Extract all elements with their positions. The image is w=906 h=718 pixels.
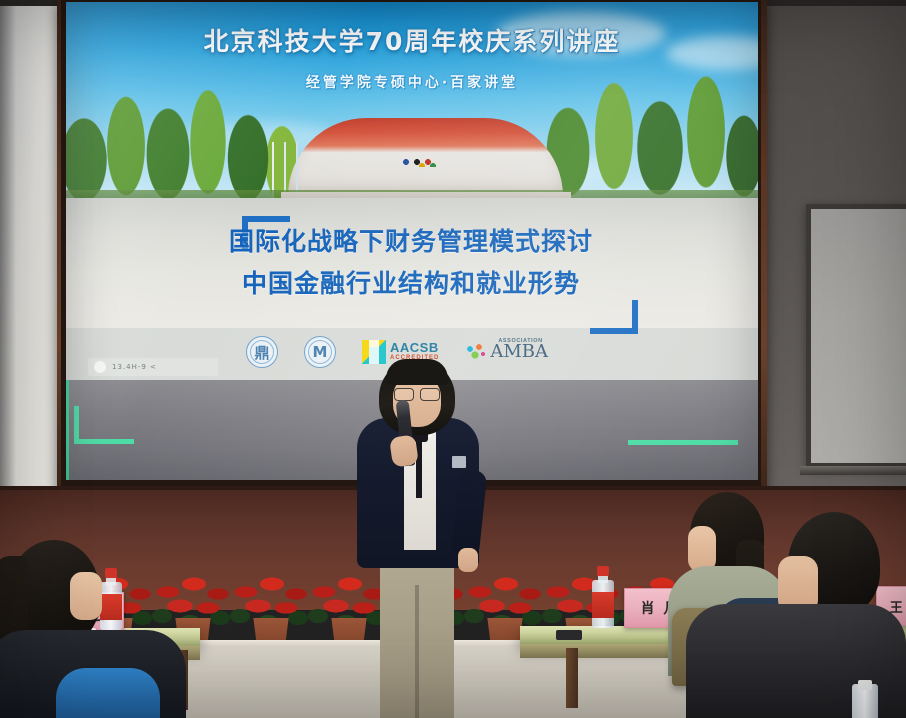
slide-header-title: 北京科技大学70周年校庆系列讲座 [66,22,758,58]
whiteboard-marker-tray [800,466,906,475]
presenter-trousers [380,545,454,718]
attendee-jacket-trim [56,668,160,718]
lecture-hall-scene: 北京科技大学70周年校庆系列讲座 经管学院专硕中心·百家讲堂 国际化战略下财务管… [0,0,906,718]
presenter-fringe [386,359,448,385]
left-wall-shadow [0,0,16,548]
table-leg [566,648,578,708]
slide-header: 北京科技大学70周年校庆系列讲座 经管学院专硕中心·百家讲堂 [66,22,758,92]
aacsb-mark-icon [362,340,386,364]
slide-headline-line-1: 国际化战略下财务管理模式探讨 [196,228,626,256]
university-seal-sem-icon: M [304,336,336,368]
campus-stadium-building [288,118,563,200]
slide-header-subtitle: 经管学院专硕中心·百家讲堂 [66,72,758,92]
olympic-rings-icon [400,158,452,167]
amba-superscript-label: ASSOCIATION [498,338,542,344]
water-bottle-foreground [852,680,878,718]
presenter-pocket-square [452,456,466,468]
band-green-edge [66,380,69,480]
band-line-right-icon [628,440,738,445]
attendee-cheek [70,572,102,620]
whiteboard [806,204,906,468]
presenter-glasses-icon [393,388,441,400]
university-seal-ustb-icon: 鼎 [246,336,278,368]
phone-on-table [556,630,582,640]
overlay-chip-dot-icon [94,361,106,373]
water-bottle-left [100,568,122,630]
slide-overlay-chip: 13.4H-9 < [88,358,218,376]
amba-mark-icon [465,343,487,361]
water-bottle-right [592,566,614,628]
presenter-hand-left [389,434,419,467]
band-bracket-left-icon [74,406,134,444]
placard-far-right-text: 王 杰 [890,597,906,616]
amba-logo: ASSOCIATION AMBA [465,343,548,361]
seal-glyph: M [305,337,335,367]
slide-headline-block: 国际化战略下财务管理模式探讨 中国金融行业结构和就业形势 [176,212,646,324]
slide-headline-line-2: 中国金融行业结构和就业形势 [196,270,626,298]
bracket-bottom-right-icon [590,300,638,334]
overlay-chip-text: 13.4H-9 < [112,363,157,371]
presenter-hand-right [458,548,478,572]
seal-glyph: 鼎 [247,337,277,367]
amba-wordmark: AMBA [490,343,548,361]
aacsb-wordmark: AACSB [390,341,439,354]
